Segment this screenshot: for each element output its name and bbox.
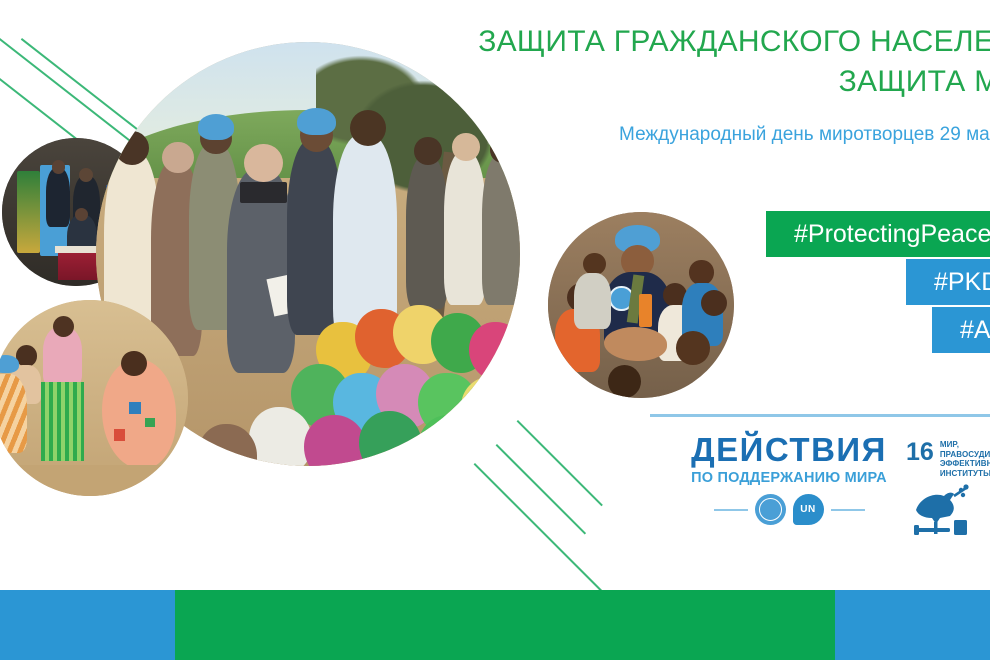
dove-and-gavel-icon (906, 484, 990, 547)
bottom-bar-left-segment (0, 590, 175, 660)
divider-rule (650, 414, 990, 417)
a4p-logo-subtitle: ПО ПОДДЕРЖАНИЮ МИРА (684, 469, 894, 487)
bottom-bar-right-segment (835, 590, 990, 660)
headline-line-2: ЗАЩИТА МИРА (420, 62, 990, 102)
decoration-line-bc-1 (517, 420, 603, 506)
emblem-rule-left (714, 509, 748, 511)
headline-subtitle: Международный день миротворцев 29 мая (420, 122, 990, 148)
a4p-logo-title: ДЕЙСТВИЯ (684, 432, 894, 468)
sdg-16-logo: 16 МИР, ПРАВОСУДИЕ И ЭФФЕКТИВНЫЕ ИНСТИТУ… (906, 440, 990, 547)
sdg-goal-number: 16 (906, 440, 934, 464)
un-wordmark-icon: UN (793, 494, 824, 525)
hashtag-pkday: #PKDay (906, 259, 990, 305)
un-emblem-icon (755, 494, 786, 525)
photo-peacekeeper-with-children (548, 212, 734, 398)
hashtag-protecting-peace: #ProtectingPeace (766, 211, 990, 257)
decoration-line-bc-3 (474, 463, 603, 592)
emblem-rule-right (831, 509, 865, 511)
a4p-logo: ДЕЙСТВИЯ ПО ПОДДЕРЖАНИЮ МИРА UN (684, 432, 894, 525)
sdg-header-row: 16 МИР, ПРАВОСУДИЕ И ЭФФЕКТИВНЫЕ ИНСТИТУ… (906, 440, 990, 478)
sdg-goal-label: МИР, ПРАВОСУДИЕ И ЭФФЕКТИВНЫЕ ИНСТИТУТЫ (940, 440, 990, 478)
a4p-emblem-row: UN (684, 494, 894, 525)
bottom-bar-center-segment (175, 590, 835, 660)
banner-root: ЗАЩИТА ГРАЖДАНСКОГО НАСЕЛЕНИЯ ЗАЩИТА МИР… (0, 0, 990, 660)
photo-women-and-children (0, 300, 188, 496)
headline-line-1: ЗАЩИТА ГРАЖДАНСКОГО НАСЕЛЕНИЯ (438, 22, 990, 62)
hashtag-a4p: #A4P (932, 307, 990, 353)
page-title: ЗАЩИТА ГРАЖДАНСКОГО НАСЕЛЕНИЯ ЗАЩИТА МИР… (420, 22, 990, 102)
bottom-color-bar (0, 590, 990, 660)
